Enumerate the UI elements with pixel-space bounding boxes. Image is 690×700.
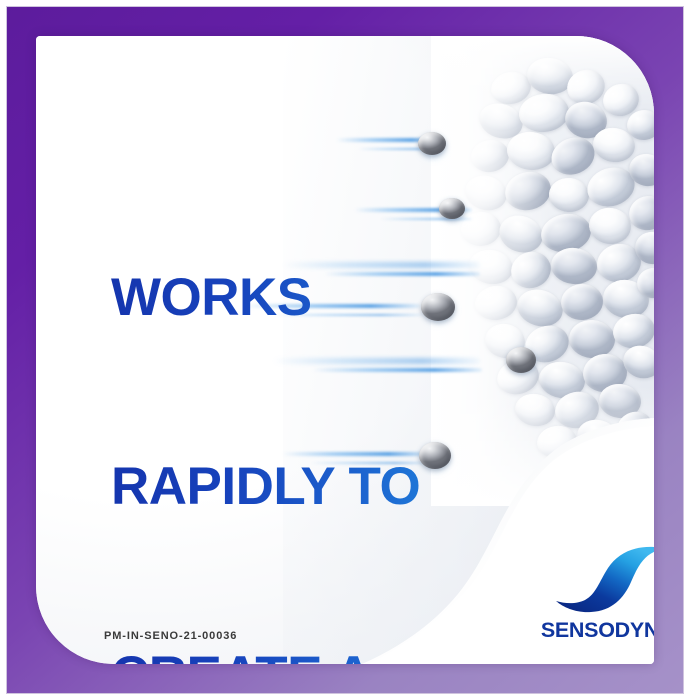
- page-title: WORKS RAPIDLY TO CREATE A BARRIER OVER S…: [111, 140, 420, 664]
- brand-name: SENSODYNE: [534, 618, 654, 643]
- brand-logo: SENSODYNE: [534, 544, 654, 656]
- headline-line: WORKS: [111, 266, 420, 329]
- ad-frame: WORKS RAPIDLY TO CREATE A BARRIER OVER S…: [0, 0, 690, 700]
- ad-card: WORKS RAPIDLY TO CREATE A BARRIER OVER S…: [36, 36, 654, 664]
- headline-line: CREATE A: [111, 644, 420, 664]
- reference-code: PM-IN-SENO-21-00036: [104, 630, 237, 642]
- sensodyne-swoosh-icon: [550, 544, 654, 618]
- headline-line: RAPIDLY TO: [111, 455, 420, 518]
